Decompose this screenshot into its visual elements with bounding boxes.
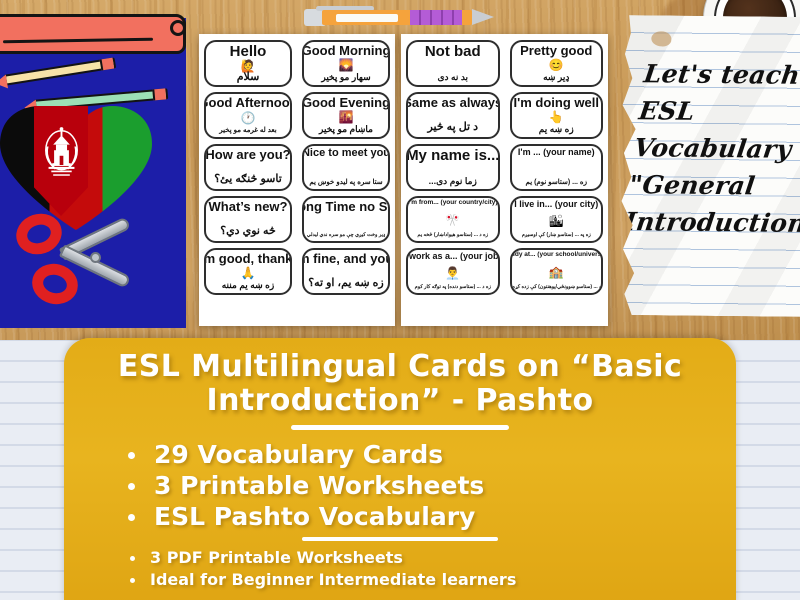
pencil-tip (0, 75, 8, 91)
card-illustration-icon: 🙏 (241, 267, 256, 279)
card-pashto-term: سهار مو پخیر (321, 73, 370, 82)
card-pashto-term: زه د ... (ستاسو دنده) په توګه کار کوم (415, 285, 491, 290)
card-column-a: Hello🙋سلامGood Afternoon🕐بعد له غرمه مو … (199, 34, 297, 301)
handwritten-note: Let's teach ESL Vocabulary of "General I… (618, 15, 800, 317)
vocabulary-card[interactable]: Same as alwaysد تل په څیر (406, 92, 500, 139)
card-pashto-term: زما نوم دی... (429, 177, 477, 186)
card-english-term: I study at... (your school/university) (510, 252, 604, 259)
card-pashto-term: زه ... (ستاسو نوم) یم (526, 179, 587, 186)
vocabulary-card[interactable]: Hello🙋سلام (204, 40, 292, 87)
card-illustration-icon: 🌄 (339, 59, 354, 71)
vocabulary-card[interactable]: Not badبد نه دی (406, 40, 500, 87)
card-pashto-term: تاسو څنګه یئ؟ (214, 174, 282, 186)
feature-item: ESL Pashto Vocabulary (124, 501, 710, 532)
vocabulary-card[interactable]: I'm from... (your country/city)🎌زه د ...… (406, 196, 500, 243)
card-pashto-term: زه په ... (ستاسو ښار) کې اوسیږم (522, 233, 591, 238)
card-english-term: Good Morning (302, 44, 390, 58)
sub-feature-item: 3 PDF Printable Worksheets (124, 547, 710, 569)
vocabulary-card[interactable]: What’s new?څه نوي دي؟ (204, 196, 292, 243)
scissors-icon (14, 208, 150, 318)
card-pashto-term: زه په ... (ستاسو ښوونځي/پوهنتون) کې زده … (510, 285, 604, 290)
card-english-term: Good Afternoon (204, 96, 292, 110)
card-pashto-term: د تل په څیر (427, 122, 478, 134)
vocabulary-card[interactable]: Good Afternoon🕐بعد له غرمه مو پخیر (204, 92, 292, 139)
feature-divider (302, 537, 498, 541)
afghanistan-emblem-icon (43, 122, 80, 184)
vocabulary-card[interactable]: I'm ... (your name)زه ... (ستاسو نوم) یم (510, 144, 604, 191)
vocabulary-card[interactable]: Nice to meet youستا سره په لیدو خوښ یم (302, 144, 390, 191)
blue-poster-panel (0, 18, 186, 328)
mechanical-pencil-grip (410, 10, 462, 25)
vocabulary-card[interactable]: Good Evening🌇ماښام مو پخیر (302, 92, 390, 139)
card-sheet-left: Hello🙋سلامGood Afternoon🕐بعد له غرمه مو … (199, 34, 395, 326)
card-english-term: Not bad (425, 44, 481, 60)
pencil-eraser (100, 58, 115, 71)
scissors-pivot (90, 252, 101, 263)
card-pashto-term: ډیر ښه (543, 73, 569, 82)
card-english-term: Nice to meet you (302, 148, 390, 160)
card-english-term: I’m fine, and you? (302, 252, 390, 266)
mechanical-pencil-icon (300, 6, 500, 28)
card-illustration-icon: 😊 (549, 59, 564, 71)
vocabulary-card[interactable]: My name is...زما نوم دی... (406, 144, 500, 191)
vocabulary-card[interactable]: I’m fine, and you?زه ښه یم، او ته؟ (302, 248, 390, 295)
poster-canvas: Let's teach ESL Vocabulary of "General I… (0, 0, 800, 600)
card-english-term: I'm doing well (514, 96, 599, 110)
card-illustration-icon: 🏙 (549, 215, 564, 227)
vocabulary-card[interactable]: Good Morning🌄سهار مو پخیر (302, 40, 390, 87)
card-pashto-term: زه ښه یم، او ته؟ (308, 278, 384, 290)
card-pashto-term: بعد له غرمه مو پخیر (219, 127, 277, 134)
card-english-term: I work as a... (your job) (406, 252, 500, 261)
card-illustration-icon: 🎌 (445, 214, 460, 226)
card-illustration-icon: 🙋 (241, 60, 256, 72)
page-title: ESL Multilingual Cards on “Basic Introdu… (90, 350, 710, 418)
vocabulary-card[interactable]: I live in... (your city)🏙زه په ... (ستاس… (510, 196, 604, 243)
card-column-b: Good Morning🌄سهار مو پخیرGood Evening🌇ما… (297, 34, 395, 301)
vocabulary-card[interactable]: I'm doing well👆زه ښه یم (510, 92, 604, 139)
card-pashto-term: ډیر وخت کیږي چې مو سره ندي لیدلي (307, 233, 385, 238)
card-english-term: I’m good, thanks (204, 252, 292, 266)
card-column-c: Not badبد نه دیSame as alwaysد تل په څیر… (401, 34, 505, 301)
card-english-term: What’s new? (209, 200, 288, 214)
coffee-drip-stain (651, 31, 671, 46)
mechanical-pencil-tip (472, 9, 494, 25)
card-english-term: I'm from... (your country/city) (408, 200, 498, 207)
pencil-case-zipper (170, 20, 186, 36)
card-pashto-term: سلام (237, 72, 260, 84)
vocabulary-card[interactable]: I study at... (your school/university)🏫ز… (510, 248, 604, 295)
pencil-case-seam (3, 38, 153, 44)
product-banner: ESL Multilingual Cards on “Basic Introdu… (64, 338, 736, 600)
card-pashto-term: زه د ... (ستاسو هیواد/ښار) څخه یم (417, 233, 488, 238)
card-english-term: Hello (230, 44, 267, 60)
vocabulary-card[interactable]: Pretty good😊ډیر ښه (510, 40, 604, 87)
card-illustration-icon: 🕐 (241, 112, 256, 124)
card-illustration-icon: 👆 (549, 111, 564, 123)
sub-feature-item: Ideal for Beginner Intermediate learners (124, 569, 710, 591)
card-pashto-term: زه ښه یم مننه (222, 281, 275, 290)
card-english-term: I'm ... (your name) (518, 148, 595, 157)
vocabulary-card[interactable]: I work as a... (your job)👨‍💼زه د ... (ست… (406, 248, 500, 295)
vocabulary-card[interactable]: Long Time no Seeډیر وخت کیږي چې مو سره ن… (302, 196, 390, 243)
vocabulary-card[interactable]: How are you?تاسو څنګه یئ؟ (204, 144, 292, 191)
sub-feature-list: 3 PDF Printable WorksheetsIdeal for Begi… (90, 547, 710, 591)
card-sheet-right: Not badبد نه دیSame as alwaysد تل په څیر… (401, 34, 608, 326)
mechanical-pencil-window (336, 14, 398, 22)
pencil-yellow-icon (4, 57, 116, 85)
pencil-eraser (152, 88, 166, 100)
card-pashto-term: څه نوي دي؟ (220, 226, 276, 238)
card-english-term: Same as always (406, 96, 500, 110)
card-pashto-term: زه ښه یم (539, 125, 574, 134)
card-english-term: My name is... (406, 148, 499, 164)
vocabulary-card[interactable]: I’m good, thanks🙏زه ښه یم مننه (204, 248, 292, 295)
scissors-handle-bottom (28, 259, 82, 309)
card-column-d: Pretty good😊ډیر ښهI'm doing well👆زه ښه ی… (505, 34, 609, 301)
card-english-term: Good Evening (302, 96, 390, 110)
card-english-term: Pretty good (520, 44, 592, 58)
card-english-term: I live in... (your city) (514, 200, 598, 209)
title-divider (291, 425, 509, 430)
card-english-term: Long Time no See (302, 200, 390, 214)
feature-item: 29 Vocabulary Cards (124, 439, 710, 470)
card-pashto-term: بد نه دی (437, 73, 468, 82)
scissors-handle-top (11, 208, 67, 260)
pencil-case-icon (0, 14, 186, 54)
card-illustration-icon: 🏫 (549, 266, 564, 278)
card-pashto-term: ستا سره په لیدو خوښ یم (309, 179, 382, 186)
feature-item: 3 Printable Worksheets (124, 470, 710, 501)
card-illustration-icon: 🌇 (339, 111, 354, 123)
card-illustration-icon: 👨‍💼 (445, 267, 460, 279)
card-pashto-term: ماښام مو پخیر (319, 125, 373, 134)
feature-list: 29 Vocabulary Cards3 Printable Worksheet… (90, 439, 710, 532)
card-english-term: How are you? (205, 148, 290, 162)
note-text: Let's teach ESL Vocabulary of "General I… (622, 55, 800, 242)
